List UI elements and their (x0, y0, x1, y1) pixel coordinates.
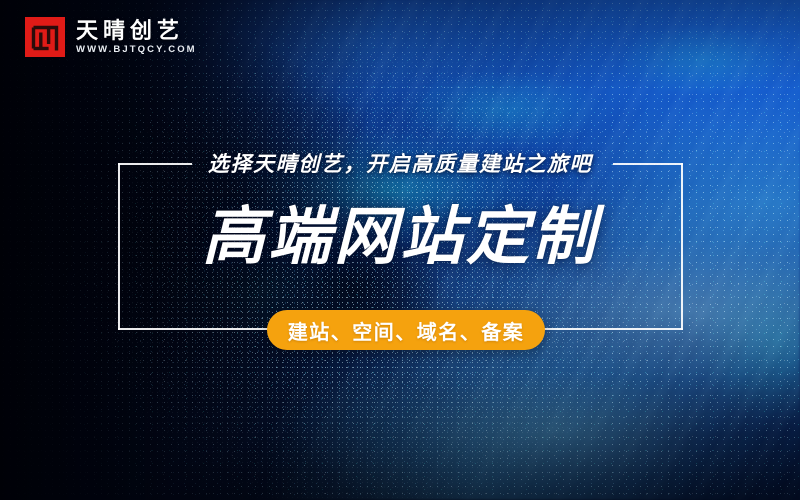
brand-website: WWW.BJTQCY.COM (76, 45, 197, 55)
tqcy-monogram-icon (25, 17, 65, 57)
hero-title: 高端网站定制 (0, 206, 800, 269)
services-cta-button[interactable]: 建站、空间、域名、备案 (267, 310, 545, 350)
hero-subtitle: 选择天晴创艺，开启高质量建站之旅吧 (0, 148, 800, 178)
brand-logo[interactable]: 天晴创艺 WWW.BJTQCY.COM (25, 17, 197, 57)
services-cta-label: 建站、空间、域名、备案 (288, 316, 525, 345)
hero-banner: 天晴创艺 WWW.BJTQCY.COM 选择天晴创艺，开启高质量建站之旅吧 高端… (0, 0, 800, 500)
brand-name-cn: 天晴创艺 (76, 19, 197, 42)
